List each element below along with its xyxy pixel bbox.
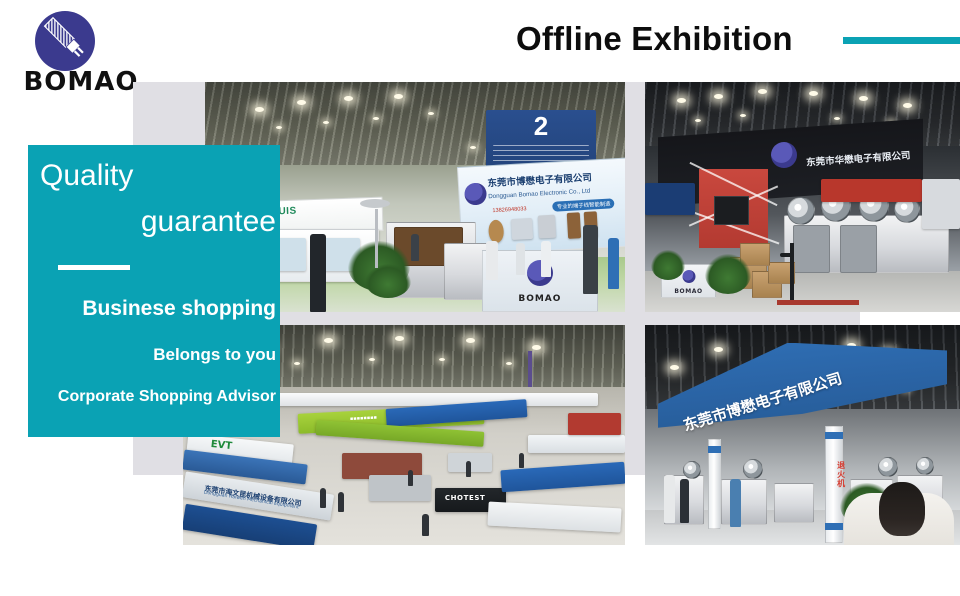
red-feature-wall [699, 169, 768, 247]
quote-line-business-shopping: Businese shopping [82, 297, 276, 321]
exhibition-photo-top-right[interactable]: 东莞市华懋电子有限公司 BOMAO [645, 82, 960, 312]
bomao-banner-logo-icon [464, 182, 487, 206]
quote-line-corporate-advisor: Corporate Shopping Advisor [58, 388, 276, 406]
booth-white-far-right [528, 435, 625, 453]
quote-line-belongs-to-you: Belongs to you [153, 345, 276, 365]
visitor-head [879, 482, 925, 536]
booth-chotest-label: CHOTEST [445, 494, 486, 502]
quote-divider [58, 265, 130, 270]
booth-arch-green-label: ▪▪▪▪▪▪▪▪ [350, 414, 377, 421]
brand-wordmark: BOMAO [16, 68, 146, 96]
quality-guarantee-panel: Quality guarantee Businese shopping Belo… [28, 145, 280, 437]
bomao-crate-logo-icon [682, 270, 695, 283]
slide-root: BOMAO Offline Exhibition 2 [0, 0, 960, 596]
booth-pillar-sign: 退火机 [836, 461, 847, 488]
quote-line-guarantee: guarantee [141, 205, 276, 239]
booth-logo-icon [771, 142, 797, 168]
hall-number: 2 [486, 111, 595, 141]
quote-line-quality: Quality [40, 159, 133, 193]
banner-tagline: 专业的端子线智能制造 [552, 199, 614, 212]
exhibition-photo-bottom-right[interactable]: 东莞市博懋电子有限公司 退火机 [645, 325, 960, 545]
bomao-counter: BOMAO [482, 250, 597, 312]
brand-logo: BOMAO [16, 8, 146, 94]
page-title: Offline Exhibition [516, 20, 793, 58]
banner-company-en: Dongguan Bomao Electronic Co., Ltd [488, 188, 590, 201]
banner-phone: 13826948033 [492, 206, 527, 214]
booth-evt-label: EVT [211, 439, 233, 452]
bomao-crate-wordmark: BOMAO [662, 288, 716, 295]
banner-company-cn: 东莞市博懋电子有限公司 [487, 169, 592, 189]
booth-pillar-left [708, 439, 721, 529]
bomao-counter-wordmark: BOMAO [483, 294, 596, 304]
bomao-lamp-plug-icon [34, 10, 96, 72]
header-accent-rule [843, 37, 960, 44]
